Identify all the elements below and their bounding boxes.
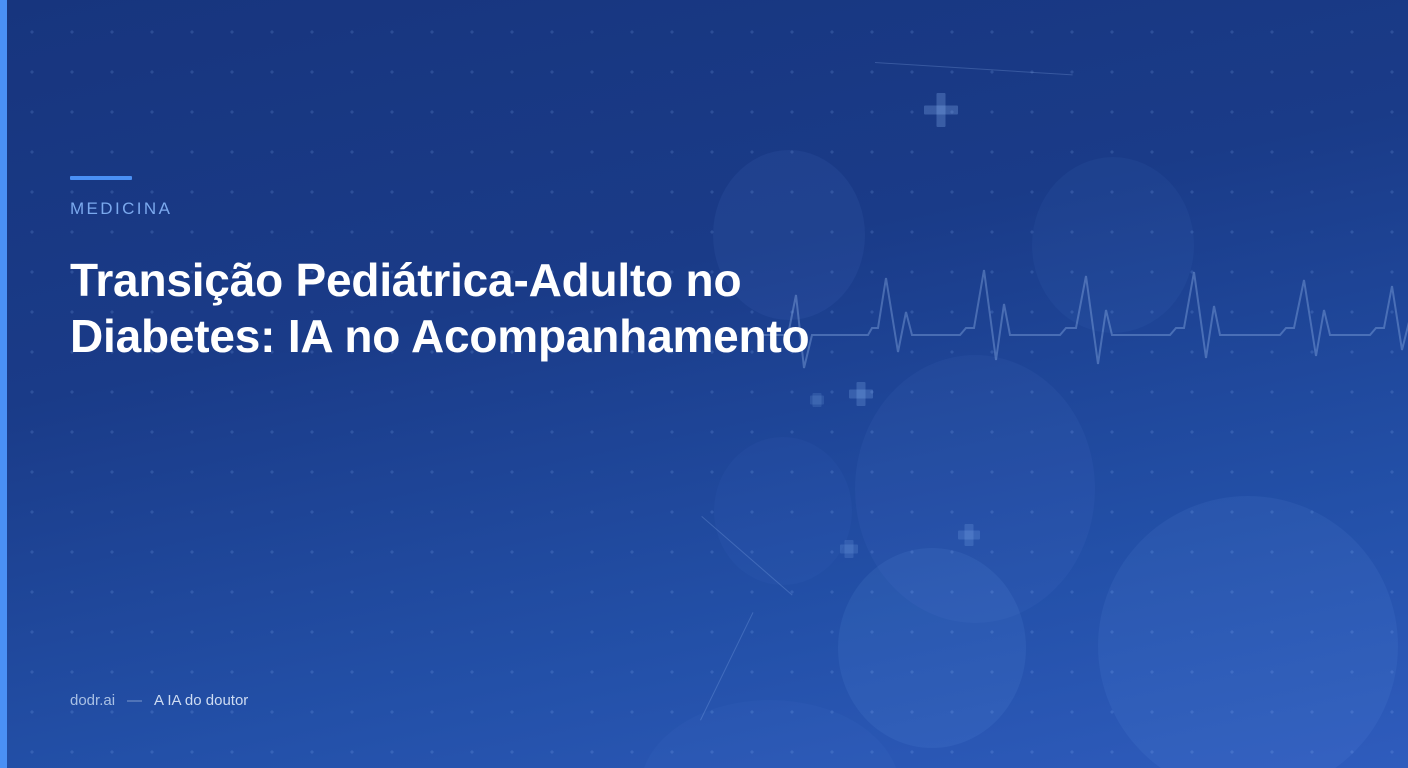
footer-separator: — — [127, 692, 142, 709]
decorative-circle — [1098, 496, 1398, 768]
title-slide: MEDICINA Transição Pediátrica-Adulto no … — [0, 0, 1408, 768]
decorative-circle — [1032, 157, 1194, 333]
medical-cross-icon — [958, 524, 980, 546]
eyebrow-rule — [70, 176, 132, 180]
title-line-1: Transição Pediátrica-Adulto no — [70, 252, 870, 308]
slide-content: MEDICINA Transição Pediátrica-Adulto no … — [70, 0, 930, 768]
left-accent-bar — [0, 0, 7, 768]
title-line-2: Diabetes: IA no Acompanhamento — [70, 308, 870, 364]
page-title: Transição Pediátrica-Adulto no Diabetes:… — [70, 252, 870, 364]
category-label: MEDICINA — [70, 199, 172, 219]
brand-name: dodr.ai — [70, 692, 115, 709]
footer: dodr.ai — A IA do doutor — [70, 692, 248, 709]
brand-tagline: A IA do doutor — [154, 692, 248, 709]
